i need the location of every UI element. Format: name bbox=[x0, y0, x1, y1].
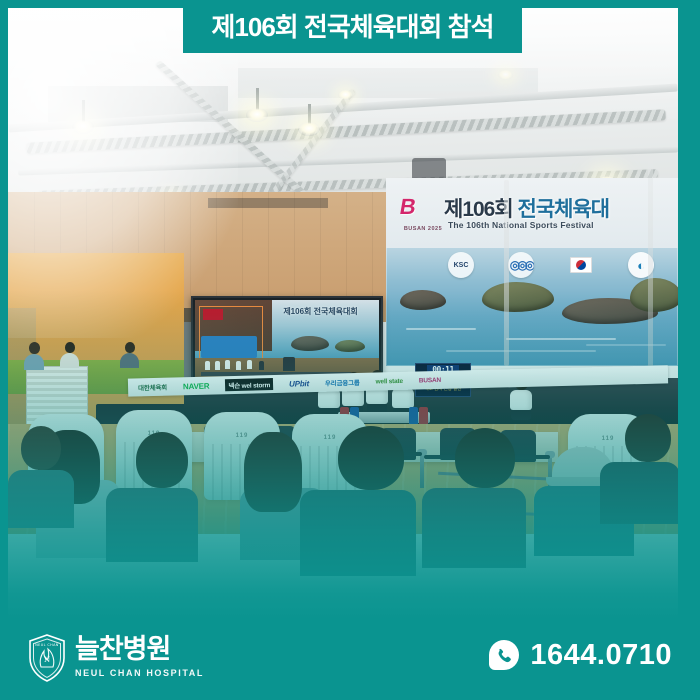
island-rock bbox=[630, 278, 678, 312]
hospital-name-en: NEUL CHAN HOSPITAL bbox=[75, 668, 204, 678]
audience-person bbox=[8, 426, 74, 528]
spectator-head bbox=[125, 342, 135, 353]
banner-title-prefix: 제106회 bbox=[444, 198, 513, 221]
shield-emblem-icon: NEUL CHAN N bbox=[28, 634, 66, 682]
led-figure bbox=[236, 361, 241, 370]
audience-person bbox=[326, 426, 416, 576]
sea-wave bbox=[446, 350, 596, 352]
audience-person bbox=[616, 414, 678, 524]
spectator-back bbox=[120, 342, 139, 368]
athlete-torso bbox=[392, 388, 414, 408]
audience-person bbox=[444, 428, 526, 568]
person-head bbox=[21, 426, 61, 470]
led-figure bbox=[259, 361, 264, 370]
sponsor-logo: NAVER bbox=[183, 381, 210, 391]
ceiling-lamp bbox=[246, 108, 268, 122]
spectator-torso bbox=[24, 354, 44, 370]
person-head bbox=[625, 414, 671, 462]
sponsor-logo: well state bbox=[376, 377, 403, 385]
contact-phone[interactable]: 1644.0710 bbox=[489, 640, 672, 670]
sea-wave bbox=[406, 328, 476, 330]
korea-sports-council-emblem-icon: KSC bbox=[448, 252, 474, 278]
sponsor-logo: BUSAN bbox=[419, 376, 441, 384]
person-torso bbox=[8, 470, 74, 528]
busan-2025-logo: B BUSAN 2025 bbox=[400, 194, 444, 238]
person-head bbox=[136, 432, 188, 488]
person-torso bbox=[422, 488, 526, 568]
led-figure bbox=[225, 360, 230, 369]
led-figure bbox=[215, 361, 220, 370]
footer-bar: NEUL CHAN N 늘찬병원 NEUL CHAN HOSPITAL 1644… bbox=[0, 620, 700, 700]
olympic-rings-emblem-icon: ◎◎◎ bbox=[508, 252, 534, 278]
ceiling-panel bbox=[238, 68, 538, 98]
athlete-torso bbox=[510, 390, 532, 410]
promo-card: B BUSAN 2025 제106회 전국체육대 The 106th Natio… bbox=[0, 0, 700, 700]
hospital-name-ko: 늘찬병원 bbox=[75, 636, 204, 663]
island-rock bbox=[400, 290, 446, 310]
page-title: 제106회 전국체육대회 참석 bbox=[211, 14, 493, 40]
person-hair bbox=[244, 432, 302, 512]
hospital-brand: NEUL CHAN N 늘찬병원 NEUL CHAN HOSPITAL bbox=[28, 634, 204, 682]
phone-icon bbox=[489, 640, 519, 670]
led-figure bbox=[283, 357, 295, 371]
spectator-back bbox=[60, 342, 79, 368]
rope-stanchion bbox=[420, 454, 424, 488]
person-torso bbox=[106, 488, 198, 562]
svg-text:N: N bbox=[44, 656, 50, 664]
person-torso bbox=[600, 462, 678, 524]
ceiling-lamp bbox=[498, 70, 513, 80]
hospital-name-block: 늘찬병원 NEUL CHAN HOSPITAL bbox=[75, 634, 204, 678]
event-backdrop-banner: B BUSAN 2025 제106회 전국체육대 The 106th Natio… bbox=[386, 178, 678, 366]
ceiling-lamp bbox=[338, 90, 353, 100]
light-pole bbox=[648, 158, 653, 368]
sponsor-logo: 넥슨 wel storm bbox=[225, 378, 273, 391]
led-banner-text: 제106회 전국체육대회 bbox=[283, 306, 357, 317]
banner-title: 제106회 전국체육대 bbox=[444, 193, 609, 223]
photo-light-haze bbox=[8, 8, 238, 338]
lamp-stem bbox=[256, 88, 259, 110]
banner-title-highlight: 전국체육대 bbox=[518, 198, 610, 221]
taegeukgi-flag-icon bbox=[568, 252, 594, 278]
phone-number[interactable]: 1644.0710 bbox=[530, 641, 672, 670]
spectator-head bbox=[65, 342, 75, 353]
header-banner: 제106회 전국체육대회 참석 bbox=[183, 0, 522, 53]
lamp-stem bbox=[308, 104, 311, 124]
svg-text:NEUL CHAN: NEUL CHAN bbox=[35, 643, 59, 647]
sponsor-logo: 우리금융그룹 bbox=[325, 377, 360, 388]
busan-logo-mark: B bbox=[398, 194, 447, 220]
audience-person bbox=[126, 432, 198, 562]
person-head bbox=[455, 428, 515, 488]
event-photo: B BUSAN 2025 제106회 전국체육대 The 106th Natio… bbox=[8, 8, 678, 620]
spectator-back bbox=[24, 342, 44, 370]
light-pole bbox=[504, 180, 509, 366]
led-figure bbox=[205, 361, 210, 370]
busan-logo-caption: BUSAN 2025 bbox=[400, 226, 446, 232]
banner-subtitle: The 106th National Sports Festival bbox=[448, 220, 594, 230]
spectator-torso bbox=[120, 353, 139, 368]
person-head bbox=[338, 426, 404, 490]
led-figure bbox=[247, 360, 252, 369]
person-torso bbox=[300, 490, 416, 576]
sea-wave bbox=[506, 338, 616, 340]
ceiling-lamp bbox=[298, 122, 320, 136]
spectator-head bbox=[29, 342, 40, 354]
sponsor-logo: UPbit bbox=[289, 379, 309, 388]
sponsor-logo: 대한체육회 bbox=[138, 382, 167, 393]
island-rock bbox=[482, 282, 554, 312]
spectator-torso bbox=[60, 353, 79, 368]
athlete-legs bbox=[511, 410, 531, 420]
led-island bbox=[291, 336, 329, 351]
sea-wave bbox=[586, 344, 666, 346]
led-island bbox=[335, 340, 365, 352]
